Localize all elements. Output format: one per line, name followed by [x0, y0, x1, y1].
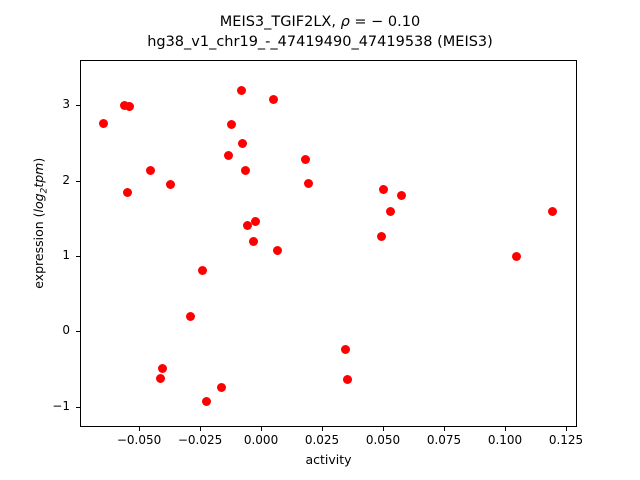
x-axis-tick [383, 427, 384, 431]
data-point [224, 151, 233, 160]
data-point [125, 102, 134, 111]
data-point [397, 191, 406, 200]
data-point [341, 345, 350, 354]
data-point [156, 374, 165, 383]
x-axis-tick-label: 0.125 [526, 433, 606, 447]
data-point [243, 221, 252, 230]
y-axis-tick [76, 331, 80, 332]
chart-title-prefix: MEIS3_TGIF2LX, [220, 14, 341, 30]
y-axis-label-suffix: ) [31, 158, 46, 163]
y-axis-label-prefix: expression ( [31, 212, 46, 288]
y-axis-label-math: log [31, 193, 46, 212]
chart-subtitle: hg38_v1_chr19_-_47419490_47419538 (MEIS3… [0, 32, 640, 52]
data-point [237, 86, 246, 95]
chart-title-suffix: = − 0.10 [350, 14, 420, 30]
x-axis-tick [566, 427, 567, 431]
rho-symbol: ρ [341, 14, 350, 30]
x-axis-tick [261, 427, 262, 431]
x-axis-label: activity [80, 452, 577, 467]
data-point [249, 237, 258, 246]
data-point [146, 166, 155, 175]
chart-title-line1: MEIS3_TGIF2LX, ρ = − 0.10 [0, 12, 640, 32]
data-point [512, 252, 521, 261]
plot-axes [80, 60, 577, 427]
x-axis-tick [505, 427, 506, 431]
data-point [99, 119, 108, 128]
data-point [238, 139, 247, 148]
data-point [343, 375, 352, 384]
y-axis-tick [76, 105, 80, 106]
x-axis-tick [200, 427, 201, 431]
data-point [227, 120, 236, 129]
chart-title-block: MEIS3_TGIF2LX, ρ = − 0.10 hg38_v1_chr19_… [0, 12, 640, 52]
data-point [273, 246, 282, 255]
data-point [186, 312, 195, 321]
x-axis-tick [322, 427, 323, 431]
data-point [548, 207, 557, 216]
data-point [166, 180, 175, 189]
data-point [251, 217, 260, 226]
y-axis-tick [76, 407, 80, 408]
data-point [123, 188, 132, 197]
y-axis-label-math2: tpm [31, 163, 46, 188]
y-axis-tick [76, 256, 80, 257]
data-point [241, 166, 250, 175]
data-point [217, 383, 226, 392]
data-point [202, 397, 211, 406]
scatter-points-layer [81, 61, 576, 426]
x-axis-tick [444, 427, 445, 431]
y-axis-label-sub: 2 [39, 188, 49, 194]
data-point [386, 207, 395, 216]
scatter-figure: MEIS3_TGIF2LX, ρ = − 0.10 hg38_v1_chr19_… [0, 0, 640, 480]
data-point [379, 185, 388, 194]
data-point [158, 364, 167, 373]
data-point [304, 179, 313, 188]
data-point [198, 266, 207, 275]
x-axis-tick [139, 427, 140, 431]
data-point [269, 95, 278, 104]
y-axis-tick [76, 181, 80, 182]
data-point [301, 155, 310, 164]
y-axis-label: expression (log2tpm) [31, 23, 50, 423]
data-point [377, 232, 386, 241]
